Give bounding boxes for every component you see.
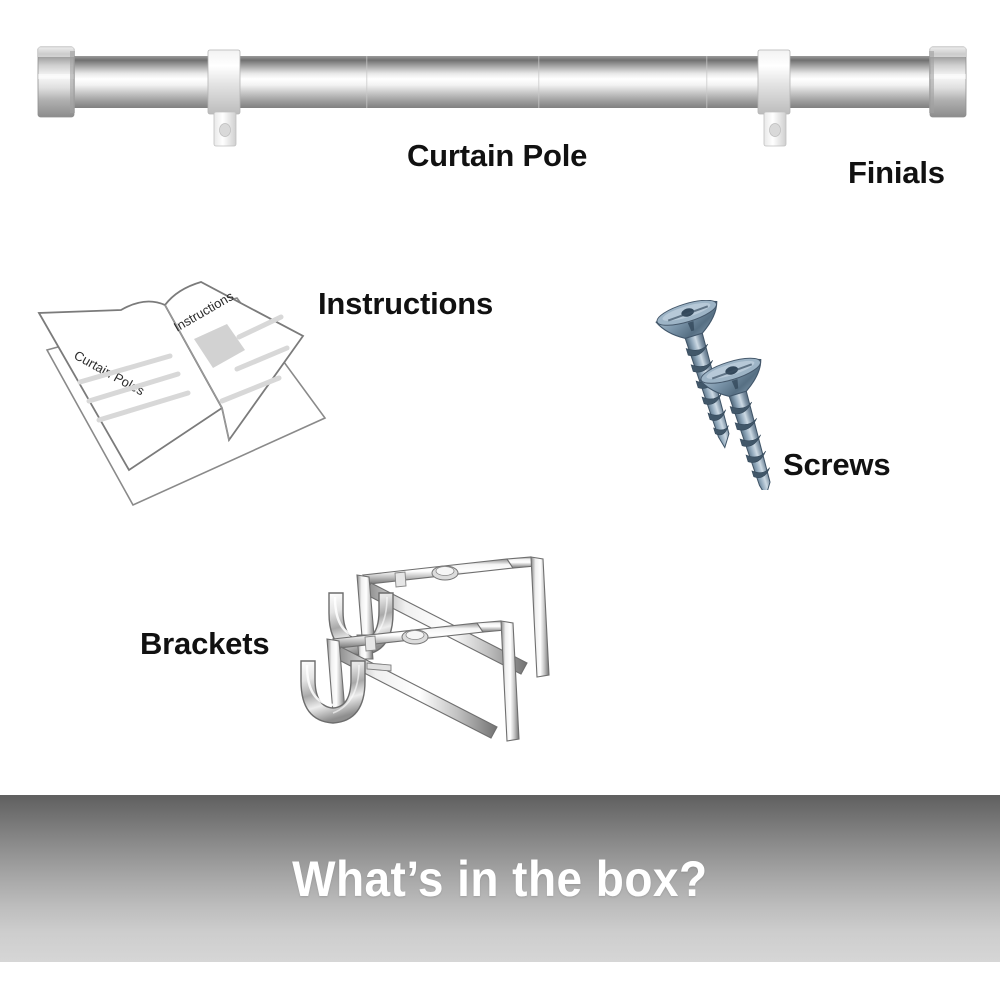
pole-bracket-collar-right xyxy=(758,50,790,146)
banner-title: What’s in the box? xyxy=(292,850,707,908)
finial-left xyxy=(38,47,75,117)
product-contents-infographic: Curtain Pole Finials Curtain Poles Instr… xyxy=(0,0,1000,1000)
finials-label: Finials xyxy=(848,155,945,191)
curtain-pole-illustration xyxy=(30,38,970,148)
curtain-pole-label: Curtain Pole xyxy=(407,138,587,174)
screws-label: Screws xyxy=(783,447,890,483)
brackets-illustration xyxy=(295,535,615,770)
bottom-banner: What’s in the box? xyxy=(0,795,1000,962)
pole-bracket-collar-left xyxy=(208,50,240,146)
finial-right xyxy=(929,47,966,117)
instructions-label: Instructions xyxy=(318,286,493,322)
brackets-label: Brackets xyxy=(140,626,269,662)
